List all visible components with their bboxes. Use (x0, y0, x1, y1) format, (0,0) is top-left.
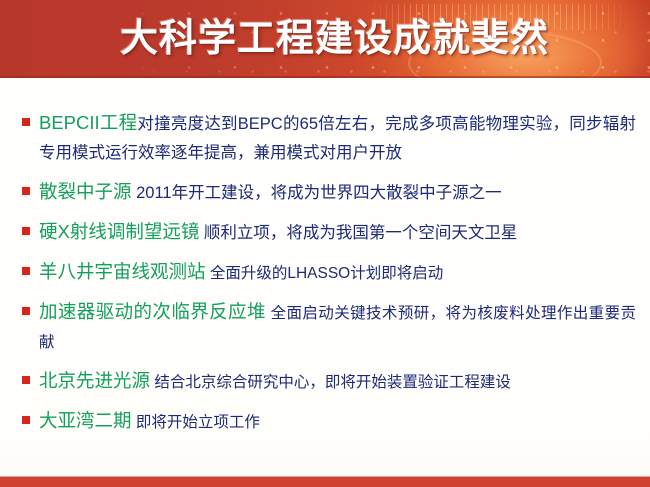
square-bullet-icon (22, 187, 30, 195)
list-item-detail: 结合北京综合研究中心，即将开始装置验证工程建设 (150, 374, 511, 391)
list-item-lead: BEPCII工程 (39, 112, 137, 133)
list-item: 羊八井宇宙线观测站 全面升级的LHASSO计划即将启动 (22, 257, 636, 288)
list-item: 大亚湾二期 即将开始立项工作 (22, 406, 636, 437)
list-item-lead: 北京先进光源 (39, 370, 150, 391)
list-item: 硬X射线调制望远镜 顺利立项，将成为我国第一个空间天文卫星 (22, 217, 636, 248)
square-bullet-icon (22, 376, 30, 384)
list-item-detail: 顺利立项，将成为我国第一个空间天文卫星 (199, 224, 517, 242)
list-item-text: 北京先进光源 结合北京综合研究中心，即将开始装置验证工程建设 (39, 366, 636, 397)
square-bullet-icon (22, 307, 30, 315)
header-banner: 大科学工程建设成就斐然 (0, 0, 650, 78)
list-item: BEPCII工程对撞亮度达到BEPC的65倍左右，完成多项高能物理实验，同步辐射… (22, 108, 636, 168)
square-bullet-icon (22, 267, 30, 275)
list-item: 北京先进光源 结合北京综合研究中心，即将开始装置验证工程建设 (22, 366, 636, 397)
list-item-detail: 即将开始立项工作 (132, 414, 260, 431)
list-item-text: 加速器驱动的次临界反应堆 全面启动关键技术预研，将为核废料处理作出重要贡献 (39, 297, 636, 357)
footer-bar (0, 477, 650, 487)
list-item: 加速器驱动的次临界反应堆 全面启动关键技术预研，将为核废料处理作出重要贡献 (22, 297, 636, 357)
list-item-text: BEPCII工程对撞亮度达到BEPC的65倍左右，完成多项高能物理实验，同步辐射… (39, 108, 636, 168)
square-bullet-icon (22, 227, 30, 235)
square-bullet-icon (22, 416, 30, 424)
list-item-lead: 羊八井宇宙线观测站 (39, 261, 206, 282)
list-item-lead: 硬X射线调制望远镜 (39, 221, 199, 242)
list-item-detail: 全面升级的LHASSO计划即将启动 (206, 265, 444, 282)
list-item-text: 羊八井宇宙线观测站 全面升级的LHASSO计划即将启动 (39, 257, 636, 288)
bullet-list: BEPCII工程对撞亮度达到BEPC的65倍左右，完成多项高能物理实验，同步辐射… (22, 108, 636, 446)
banner-bottom-rule (0, 76, 650, 78)
slide: 大科学工程建设成就斐然 BEPCII工程对撞亮度达到BEPC的65倍左右，完成多… (0, 0, 650, 487)
list-item-text: 散裂中子源 2011年开工建设，将成为世界四大散裂中子源之一 (39, 177, 636, 208)
list-item-text: 硬X射线调制望远镜 顺利立项，将成为我国第一个空间天文卫星 (39, 217, 636, 248)
list-item: 散裂中子源 2011年开工建设，将成为世界四大散裂中子源之一 (22, 177, 636, 208)
list-item-text: 大亚湾二期 即将开始立项工作 (39, 406, 636, 437)
list-item-lead: 散裂中子源 (39, 181, 132, 202)
list-item-detail: 2011年开工建设，将成为世界四大散裂中子源之一 (132, 184, 502, 202)
page-title: 大科学工程建设成就斐然 (120, 12, 549, 66)
square-bullet-icon (22, 118, 30, 126)
list-item-lead: 加速器驱动的次临界反应堆 (39, 301, 266, 322)
list-item-lead: 大亚湾二期 (39, 410, 132, 431)
